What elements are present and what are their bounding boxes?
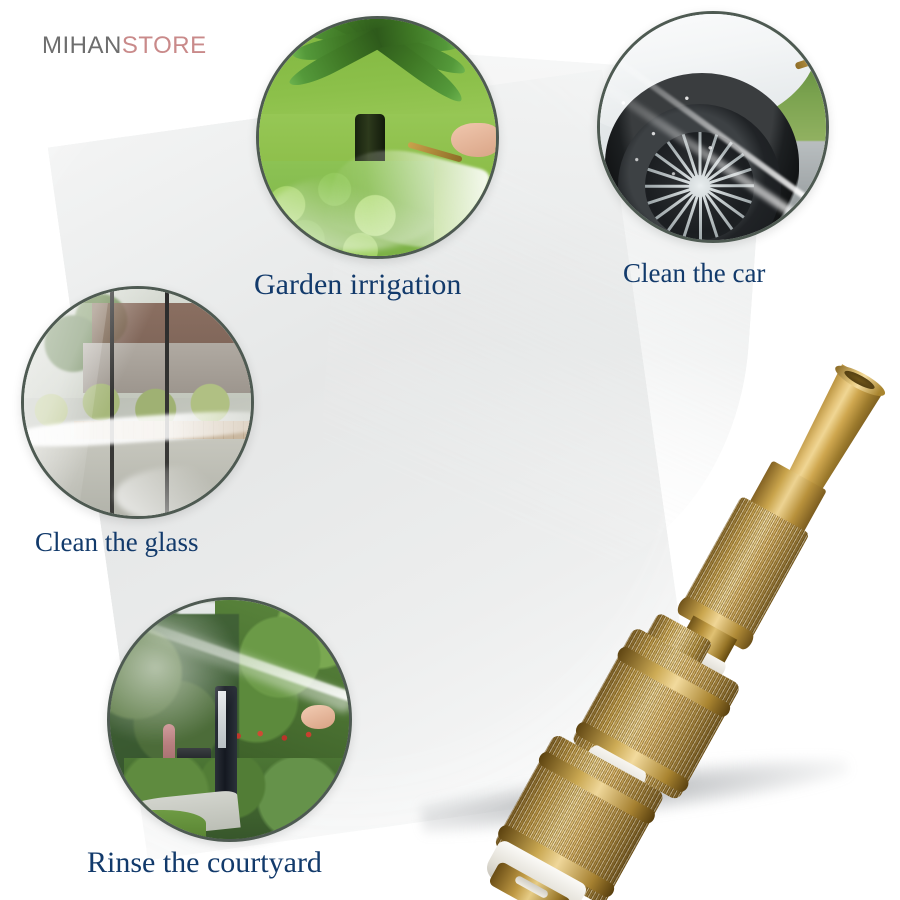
brand-logo: MIHANSTORE <box>42 32 207 60</box>
feature-photo-courtyard <box>107 597 352 842</box>
product-image-brass-nozzle <box>400 285 780 865</box>
feature-caption-courtyard: Rinse the courtyard <box>87 846 322 880</box>
brand-name-secondary: STORE <box>122 32 207 59</box>
feature-caption-glass: Clean the glass <box>35 527 198 558</box>
palm-tree-spray-icon <box>259 19 496 256</box>
glass-facade-spray-icon <box>24 289 251 516</box>
brand-name-primary: MIHAN <box>42 32 122 59</box>
feature-photo-garden <box>256 16 499 259</box>
feature-photo-car <box>597 11 829 243</box>
product-feature-poster: MIHANSTORE Garden irrigation <box>0 0 900 900</box>
courtyard-spray-icon <box>110 600 349 839</box>
car-wheel-spray-icon <box>600 14 826 240</box>
feature-photo-glass <box>21 286 254 519</box>
